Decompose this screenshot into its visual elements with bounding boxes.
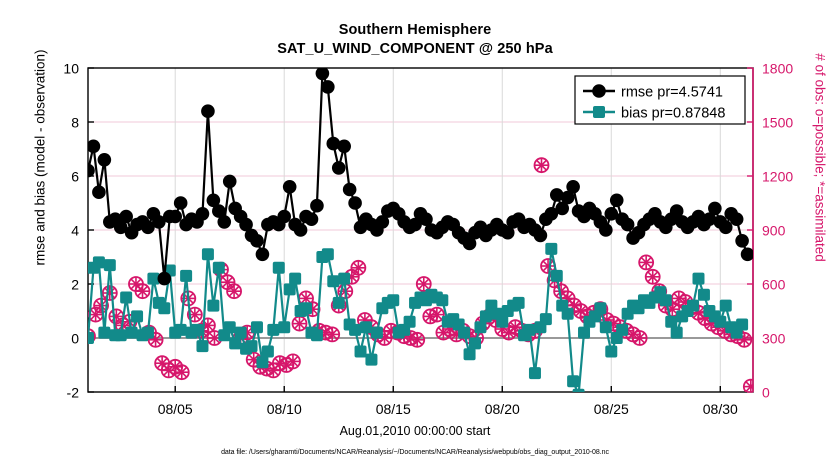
series-marker-circle (321, 80, 335, 94)
series-marker-square (529, 367, 541, 379)
y-tick-label-right: 300 (762, 331, 786, 347)
legend-label: bias pr=0.87848 (621, 106, 725, 122)
series-marker-circle (730, 212, 744, 226)
series-marker-square (235, 327, 247, 339)
series-marker-square (567, 375, 579, 387)
series-marker-square (573, 389, 585, 401)
series-marker-circle (277, 210, 291, 224)
series-marker-circle (119, 210, 133, 224)
series-marker-circle (316, 67, 330, 81)
series-marker-circle (566, 180, 580, 194)
x-tick-label: 08/30 (703, 401, 738, 417)
series-marker-square (213, 262, 225, 274)
series-marker-square (660, 294, 672, 306)
series-marker-square (616, 324, 628, 336)
obs-marker (292, 317, 306, 331)
series-marker-square (671, 327, 683, 339)
series-marker-square (300, 302, 312, 314)
series-marker-square (562, 308, 574, 320)
x-axis-label: Aug.01,2010 00:00:00 start (0, 424, 830, 438)
series-marker-circle (708, 202, 722, 216)
series-marker-circle (217, 215, 231, 229)
y-tick-label-right: 1500 (762, 115, 793, 131)
series-marker-square (115, 329, 127, 341)
series-marker-square (349, 324, 361, 336)
y-tick-label-left: 6 (71, 169, 79, 185)
series-marker-square (327, 275, 339, 287)
series-marker-circle (92, 185, 106, 199)
series-marker-square (736, 319, 748, 331)
series-marker-square (720, 300, 732, 312)
series-marker-circle (168, 210, 182, 224)
obs-marker (535, 158, 549, 172)
series-marker-square (262, 346, 274, 358)
series-marker-square (333, 297, 345, 309)
series-marker-square (365, 354, 377, 366)
obs-marker (351, 261, 365, 275)
obs-marker (633, 331, 647, 345)
series-marker-square (278, 321, 290, 333)
series-marker-square (229, 337, 241, 349)
series-marker-square (273, 262, 285, 274)
y-tick-label-left: 2 (71, 277, 79, 293)
obs-marker (744, 380, 758, 394)
obs-marker (227, 284, 241, 298)
obs-marker (639, 255, 653, 269)
legend-marker-circle (592, 84, 606, 98)
obs-marker (286, 354, 300, 368)
series-marker-square (126, 327, 138, 339)
series-marker-square (131, 310, 143, 322)
obs-marker (410, 333, 424, 347)
series-marker-square (180, 270, 192, 282)
series-marker-square (474, 321, 486, 333)
series-marker-square (551, 270, 563, 282)
series-marker-circle (534, 229, 548, 243)
y-tick-label-left: 0 (71, 331, 79, 347)
series-marker-circle (174, 196, 188, 210)
series-marker-square (458, 327, 470, 339)
series-marker-square (207, 300, 219, 312)
series-marker-square (578, 327, 590, 339)
series-marker-square (360, 321, 372, 333)
obs-marker (175, 365, 189, 379)
series-marker-square (436, 294, 448, 306)
series-marker-circle (310, 199, 324, 213)
series-marker-square (540, 313, 552, 325)
y-tick-label-right: 600 (762, 277, 786, 293)
series-marker-circle (158, 272, 172, 286)
series-marker-circle (735, 234, 749, 248)
series-marker-square (82, 332, 94, 344)
legend-marker-square (593, 106, 605, 118)
series-marker-circle (741, 248, 755, 262)
series-marker-square (714, 316, 726, 328)
series-marker-square (480, 310, 492, 322)
series-marker-square (289, 273, 301, 285)
data-file-footer: data file: /Users/gharamti/Documents/NCA… (0, 449, 830, 456)
series-marker-square (338, 273, 350, 285)
y-tick-label-left: -2 (67, 385, 80, 401)
x-tick-label: 08/25 (594, 401, 629, 417)
series-marker-square (665, 316, 677, 328)
series-marker-circle (337, 140, 351, 154)
obs-marker (430, 308, 444, 322)
x-tick-label: 08/05 (158, 401, 193, 417)
series-marker-square (687, 300, 699, 312)
series-marker-circle (223, 175, 237, 189)
series-marker-circle (305, 212, 319, 226)
series-marker-square (545, 243, 557, 255)
series-marker-square (246, 340, 258, 352)
series-marker-circle (332, 161, 346, 175)
x-tick-label: 08/10 (267, 401, 302, 417)
series-marker-square (594, 302, 606, 314)
series-marker-square (251, 321, 263, 333)
x-tick-label: 08/15 (376, 401, 411, 417)
series-marker-circle (294, 223, 308, 237)
series-marker-square (600, 321, 612, 333)
series-marker-square (698, 289, 710, 301)
series-marker-square (524, 324, 536, 336)
series-marker-square (605, 346, 617, 358)
series-marker-square (284, 283, 296, 295)
obs-marker (103, 286, 117, 300)
series-marker-square (175, 324, 187, 336)
series-marker-square (469, 337, 481, 349)
series-marker-circle (343, 183, 357, 197)
series-marker-square (496, 316, 508, 328)
series-marker-square (371, 327, 383, 339)
y-tick-label-right: 1200 (762, 169, 793, 185)
series-marker-circle (283, 180, 297, 194)
obs-marker (136, 284, 150, 298)
series-marker-square (464, 348, 476, 360)
series-marker-square (158, 302, 170, 314)
y-tick-label-left: 4 (71, 223, 79, 239)
y-tick-label-right: 0 (762, 385, 770, 401)
series-marker-square (224, 321, 236, 333)
x-tick-label: 08/20 (485, 401, 520, 417)
series-marker-circle (98, 153, 112, 167)
obs-marker (646, 270, 660, 284)
series-marker-circle (196, 207, 210, 221)
series-marker-circle (348, 196, 362, 210)
series-marker-square (267, 324, 279, 336)
series-marker-circle (81, 164, 95, 178)
chart-plot-area: -20246810030060090012001500180008/0508/1… (0, 0, 830, 470)
series-marker-square (93, 256, 105, 268)
y-tick-label-left: 10 (63, 61, 79, 77)
series-marker-circle (250, 234, 264, 248)
y-tick-label-left: 8 (71, 115, 79, 131)
series-marker-square (404, 316, 416, 328)
series-marker-square (104, 259, 116, 271)
series-marker-circle (256, 248, 270, 262)
series-marker-circle (599, 223, 613, 237)
y-tick-label-right: 900 (762, 223, 786, 239)
series-marker-square (98, 327, 110, 339)
chart-page: Southern Hemisphere SAT_U_WIND_COMPONENT… (0, 0, 830, 470)
obs-marker (325, 327, 339, 341)
series-marker-circle (719, 221, 733, 235)
series-marker-square (513, 297, 525, 309)
series-marker-circle (621, 218, 635, 232)
series-marker-square (311, 329, 323, 341)
legend-label: rmse pr=4.5741 (621, 85, 723, 101)
series-marker-square (202, 248, 214, 260)
series-marker-circle (201, 104, 215, 118)
series-marker-square (142, 327, 154, 339)
series-marker-circle (610, 194, 624, 208)
series-marker-square (387, 294, 399, 306)
series-marker-circle (87, 140, 101, 154)
series-marker-square (322, 248, 334, 260)
y-tick-label-right: 1800 (762, 61, 793, 77)
series-marker-square (355, 346, 367, 358)
series-marker-square (196, 340, 208, 352)
series-marker-square (120, 292, 132, 304)
series-marker-square (256, 356, 268, 368)
series-marker-square (191, 324, 203, 336)
series-marker-square (692, 273, 704, 285)
